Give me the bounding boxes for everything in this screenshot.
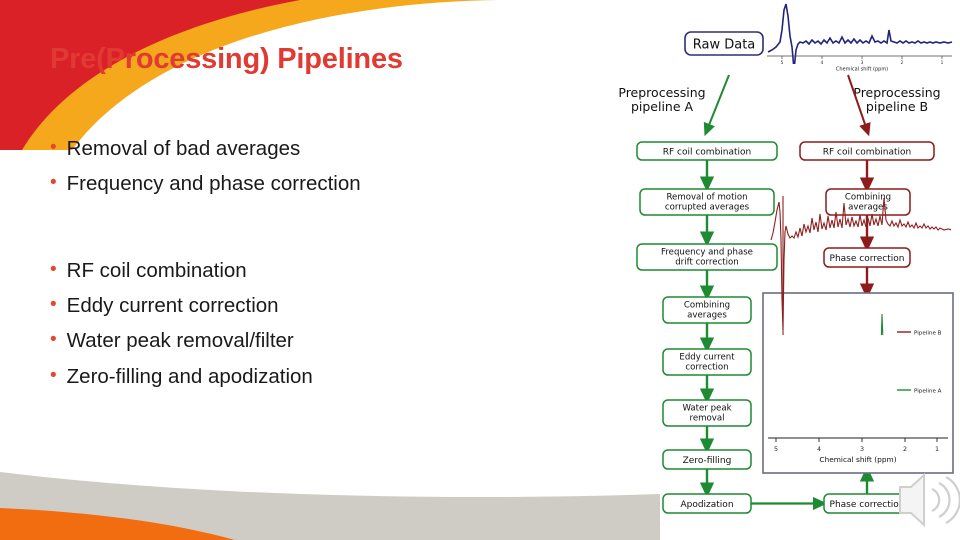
step-label-line1: Combining (684, 301, 730, 311)
svg-text:pipeline B: pipeline B (866, 99, 928, 114)
bullet-dot-icon: • (50, 364, 57, 388)
pipeline-a-label: Preprocessing pipeline A (618, 85, 705, 114)
bullet-dot-icon: • (50, 293, 57, 317)
step-label-line2: corrupted averages (665, 203, 750, 213)
svg-text:5: 5 (781, 60, 784, 66)
svg-text:5: 5 (774, 445, 778, 453)
step-label: Zero-filling (683, 456, 732, 466)
final-phase-correction-node[interactable]: Phase correction (824, 494, 910, 513)
list-item: • Zero-filling and apodization (50, 364, 570, 390)
page-title: Pre(Processing) Pipelines (50, 43, 403, 76)
pipeline-flowchart-svg: 5 4 3 2 1 Chemical shift (ppm) Raw Data … (600, 0, 960, 540)
pipeline-a-step-3[interactable]: Combining averages (663, 297, 751, 323)
list-item: • RF coil combination (50, 258, 570, 284)
bullet-list-secondary: • RF coil combination • Eddy current cor… (50, 258, 570, 399)
pipeline-comparison-chart: Pipeline B Pipeline A 5 4 3 2 1 Chemical… (763, 196, 953, 473)
pipeline-figure: 5 4 3 2 1 Chemical shift (ppm) Raw Data … (600, 0, 960, 540)
svg-text:2: 2 (903, 445, 907, 453)
pipeline-a-step-5[interactable]: Water peak removal (663, 400, 751, 426)
bullet-dot-icon: • (50, 136, 57, 160)
legend-label-pipeline-a: Pipeline A (914, 389, 942, 395)
step-label: Apodization (680, 500, 733, 510)
pipeline-b-step-1[interactable]: Combining averages (826, 189, 910, 215)
list-item: • Water peak removal/filter (50, 328, 570, 354)
arrow-to-pipeline-a (707, 75, 729, 130)
step-label: Phase correction (830, 500, 905, 510)
raw-data-node[interactable]: Raw Data (685, 32, 763, 55)
bottom-left-decoration (0, 450, 660, 540)
list-item-label: RF coil combination (67, 258, 570, 284)
step-label-line1: Water peak (682, 404, 731, 414)
comparison-xlabel: Chemical shift (ppm) (819, 455, 896, 464)
step-label-line2: averages (848, 203, 888, 213)
svg-text:3: 3 (860, 445, 864, 453)
step-label: Phase correction (830, 254, 905, 264)
step-label: RF coil combination (663, 148, 752, 158)
raw-spectrum-xlabel: Chemical shift (ppm) (836, 67, 888, 73)
svg-text:Preprocessing: Preprocessing (853, 85, 940, 100)
list-item-label: Frequency and phase correction (67, 171, 570, 197)
step-label-line1: Eddy current (679, 353, 735, 363)
svg-text:1: 1 (935, 445, 939, 453)
raw-spectrum-xticks: 5 4 3 2 1 (781, 56, 944, 66)
bullet-dot-icon: • (50, 258, 57, 282)
pipeline-a-step-6[interactable]: Zero-filling (663, 450, 751, 469)
legend-label-pipeline-b: Pipeline B (914, 331, 942, 337)
step-label-line2: correction (685, 363, 728, 373)
bullet-list-primary: • Removal of bad averages • Frequency an… (50, 136, 570, 206)
list-item-label: Water peak removal/filter (67, 328, 570, 354)
list-item-label: Zero-filling and apodization (67, 364, 570, 390)
svg-text:Preprocessing: Preprocessing (618, 85, 705, 100)
arrow-to-pipeline-b (848, 75, 867, 130)
svg-text:pipeline A: pipeline A (631, 99, 694, 114)
list-item: • Eddy current correction (50, 293, 570, 319)
step-label-line1: Removal of motion (666, 193, 747, 203)
raw-data-label: Raw Data (693, 38, 756, 53)
pipeline-a-step-2[interactable]: Frequency and phase drift correction (637, 244, 777, 270)
slide-canvas: Pre(Processing) Pipelines • Removal of b… (0, 0, 960, 540)
step-label-line2: averages (687, 311, 727, 321)
pipeline-b-label: Preprocessing pipeline B (853, 85, 940, 114)
bullet-dot-icon: • (50, 328, 57, 352)
pipeline-a-step-1[interactable]: Removal of motion corrupted averages (640, 189, 774, 215)
step-label: RF coil combination (823, 148, 912, 158)
pipeline-b-step-2[interactable]: Phase correction (824, 248, 910, 267)
list-item-label: Eddy current correction (67, 293, 570, 319)
pipeline-a-column: RF coil combination Removal of motion co… (637, 142, 777, 513)
step-label-line1: Frequency and phase (661, 248, 753, 258)
pipeline-a-step-0[interactable]: RF coil combination (637, 142, 777, 160)
pipeline-a-step-4[interactable]: Eddy current correction (663, 349, 751, 375)
list-item: • Removal of bad averages (50, 136, 570, 162)
svg-text:1: 1 (941, 60, 944, 66)
pipeline-b-step-0[interactable]: RF coil combination (800, 142, 934, 160)
svg-text:2: 2 (901, 60, 904, 66)
list-item-label: Removal of bad averages (67, 136, 570, 162)
svg-text:4: 4 (821, 60, 824, 66)
svg-text:3: 3 (861, 60, 864, 66)
list-item: • Frequency and phase correction (50, 171, 570, 197)
step-label-line2: drift correction (675, 258, 739, 268)
pipeline-a-step-7[interactable]: Apodization (663, 494, 751, 513)
bullet-dot-icon: • (50, 171, 57, 195)
svg-text:4: 4 (817, 445, 821, 453)
speaker-icon[interactable] (900, 475, 960, 525)
step-label-line2: removal (689, 414, 724, 424)
